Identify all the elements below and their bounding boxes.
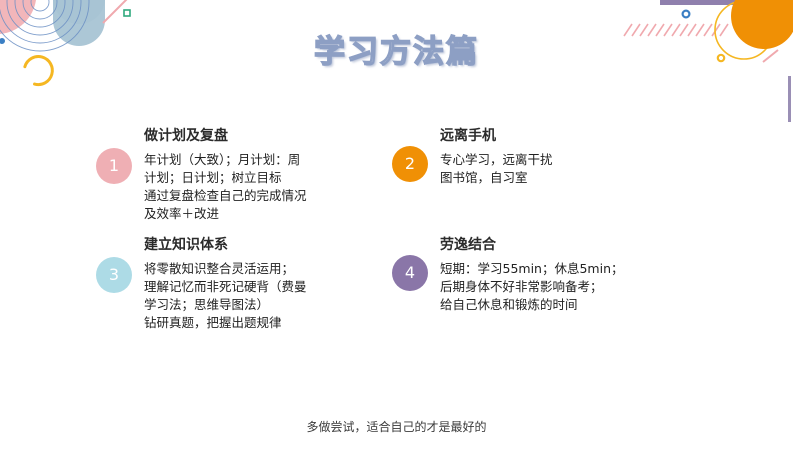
slide-canvas: 学习方法篇 1 做计划及复盘 年计划（大致）；月计划：周 计划；日计划；树立目标… xyxy=(0,0,793,450)
item-body-3: 将零散知识整合灵活运用； 理解记忆而非死记硬背（费曼 学习法；思维导图法） 钻研… xyxy=(144,260,392,332)
content-item-2: 2 远离手机 专心学习，远离干扰 图书馆，自习室 xyxy=(392,124,688,223)
pink-diagonal-line-icon xyxy=(103,0,128,23)
item-text-block-2: 远离手机 专心学习，远离干扰 图书馆，自习室 xyxy=(440,124,688,187)
item-text-block-3: 建立知识体系 将零散知识整合灵活运用； 理解记忆而非死记硬背（费曼 学习法；思维… xyxy=(144,233,392,332)
item-number-badge-4: 4 xyxy=(392,255,428,291)
item-text-block-4: 劳逸结合 短期：学习55min；休息5min； 后期身体不好非常影响备考； 给自… xyxy=(440,233,688,314)
item-title-1: 做计划及复盘 xyxy=(144,126,392,146)
item-title-3: 建立知识体系 xyxy=(144,235,392,255)
content-row-2: 3 建立知识体系 将零散知识整合灵活运用； 理解记忆而非死记硬背（费曼 学习法；… xyxy=(96,233,716,332)
item-title-4: 劳逸结合 xyxy=(440,235,688,255)
item-number-badge-1: 1 xyxy=(96,148,132,184)
blue-ring-dot-icon xyxy=(683,11,690,18)
item-number-badge-3: 3 xyxy=(96,257,132,293)
content-item-1: 1 做计划及复盘 年计划（大致）；月计划：周 计划；日计划；树立目标 通过复盘检… xyxy=(96,124,392,223)
purple-vertical-bar-icon xyxy=(788,76,791,122)
page-title-container: 学习方法篇 xyxy=(0,26,793,71)
item-text-block-1: 做计划及复盘 年计划（大致）；月计划：周 计划；日计划；树立目标 通过复盘检查自… xyxy=(144,124,392,223)
item-number-badge-2: 2 xyxy=(392,146,428,182)
green-square-outline-icon xyxy=(124,10,130,16)
item-body-2: 专心学习，远离干扰 图书馆，自习室 xyxy=(440,151,688,187)
content-grid: 1 做计划及复盘 年计划（大致）；月计划：周 计划；日计划；树立目标 通过复盘检… xyxy=(96,124,716,332)
item-title-2: 远离手机 xyxy=(440,126,688,146)
purple-bar-icon xyxy=(660,0,793,5)
item-body-4: 短期：学习55min；休息5min； 后期身体不好非常影响备考； 给自己休息和锻… xyxy=(440,260,688,314)
page-title: 学习方法篇 xyxy=(314,26,479,71)
item-body-1: 年计划（大致）；月计划：周 计划；日计划；树立目标 通过复盘检查自己的完成情况 … xyxy=(144,151,392,223)
content-item-4: 4 劳逸结合 短期：学习55min；休息5min； 后期身体不好非常影响备考； … xyxy=(392,233,688,332)
content-item-3: 3 建立知识体系 将零散知识整合灵活运用； 理解记忆而非死记硬背（费曼 学习法；… xyxy=(96,233,392,332)
footer-note: 多做尝试，适合自己的才是最好的 xyxy=(0,418,793,435)
content-row-1: 1 做计划及复盘 年计划（大致）；月计划：周 计划；日计划；树立目标 通过复盘检… xyxy=(96,124,716,223)
